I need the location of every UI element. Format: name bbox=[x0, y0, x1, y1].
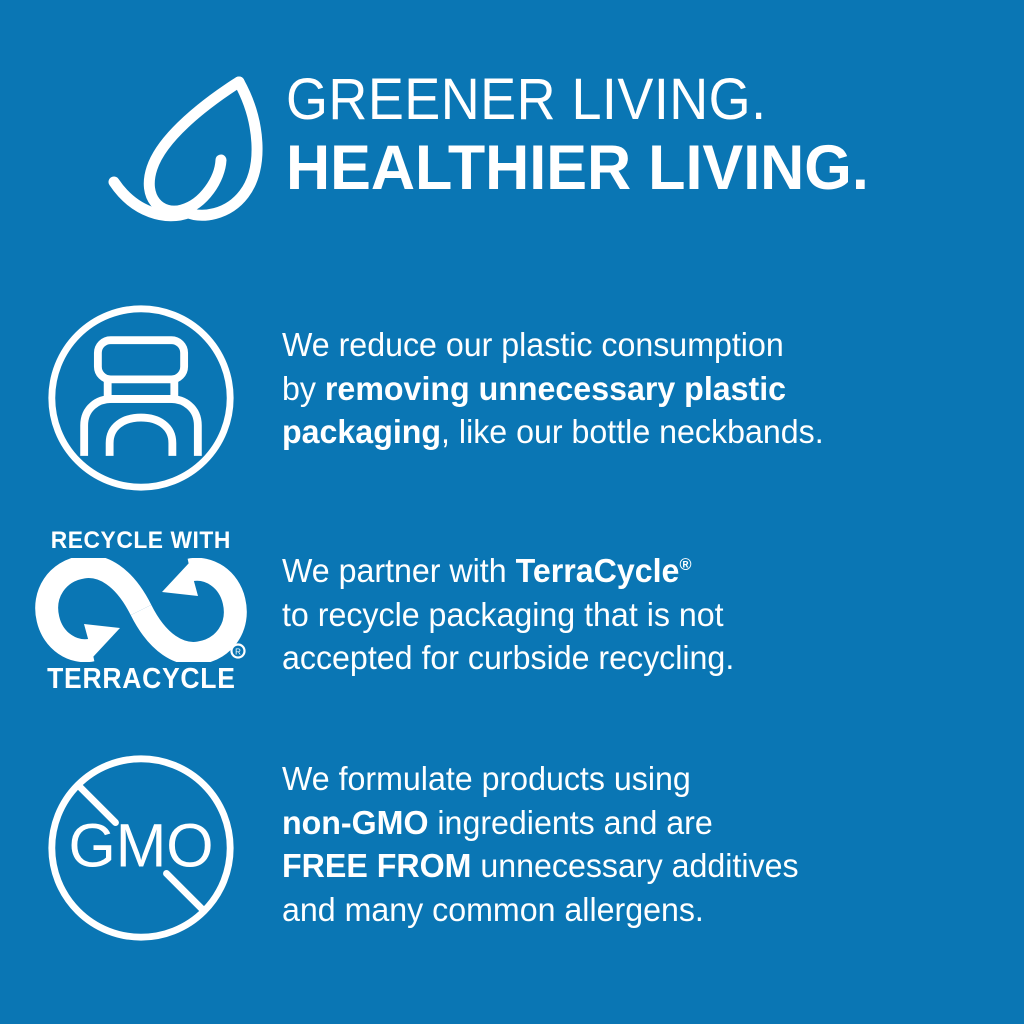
row-terracycle-line-2: to recycle packaging that is not bbox=[282, 594, 958, 638]
greener-living-infographic: GREENER LIVING. HEALTHIER LIVING. bbox=[0, 0, 1024, 1024]
row-plastic-icon-slot bbox=[0, 300, 282, 496]
no-gmo-icon: GMO bbox=[43, 750, 239, 946]
row-plastic-line-2: by removing unnecessary plastic bbox=[282, 368, 958, 412]
row-terracycle-text: We partner with TerraCycle® to recycle p… bbox=[282, 528, 1024, 681]
row-plastic-line-1: We reduce our plastic consumption bbox=[282, 324, 958, 368]
row-terracycle: RECYCLE WITH bbox=[0, 528, 1024, 694]
row-terracycle-line-3: accepted for curbside recycling. bbox=[282, 637, 958, 681]
row-terracycle-icon-slot: RECYCLE WITH bbox=[0, 528, 282, 694]
terracycle-badge-top-text: RECYCLE WITH bbox=[51, 528, 231, 554]
row-gmo-icon-slot: GMO bbox=[0, 750, 282, 946]
terracycle-badge: RECYCLE WITH bbox=[30, 528, 252, 694]
row-plastic: We reduce our plastic consumption by rem… bbox=[0, 300, 1024, 496]
row-terracycle-line-1: We partner with TerraCycle® bbox=[282, 550, 958, 594]
header: GREENER LIVING. HEALTHIER LIVING. bbox=[0, 62, 1024, 237]
row-gmo-line-1: We formulate products using bbox=[282, 758, 958, 802]
row-plastic-text: We reduce our plastic consumption by rem… bbox=[282, 300, 1024, 455]
terracycle-badge-bottom-text: TERRACYCLE bbox=[47, 664, 236, 694]
headline-line-2: HEALTHIER LIVING. bbox=[286, 134, 869, 202]
svg-text:R: R bbox=[235, 648, 241, 657]
row-plastic-line-3: packaging, like our bottle neckbands. bbox=[282, 411, 958, 455]
row-gmo-line-4: and many common allergens. bbox=[282, 889, 958, 933]
row-gmo-line-3: FREE FROM unnecessary additives bbox=[282, 845, 958, 889]
terracycle-infinity-icon: R bbox=[34, 558, 248, 662]
headline-stack: GREENER LIVING. HEALTHIER LIVING. bbox=[286, 68, 887, 202]
bottle-neckband-icon bbox=[43, 300, 239, 496]
no-gmo-icon-label: GMO bbox=[68, 812, 213, 880]
row-gmo-text: We formulate products using non-GMO ingr… bbox=[282, 750, 1024, 932]
row-gmo-line-2: non-GMO ingredients and are bbox=[282, 802, 958, 846]
leaf-icon bbox=[108, 76, 270, 228]
headline-line-1: GREENER LIVING. bbox=[286, 68, 845, 132]
row-gmo: GMO We formulate products using non-GMO … bbox=[0, 750, 1024, 946]
